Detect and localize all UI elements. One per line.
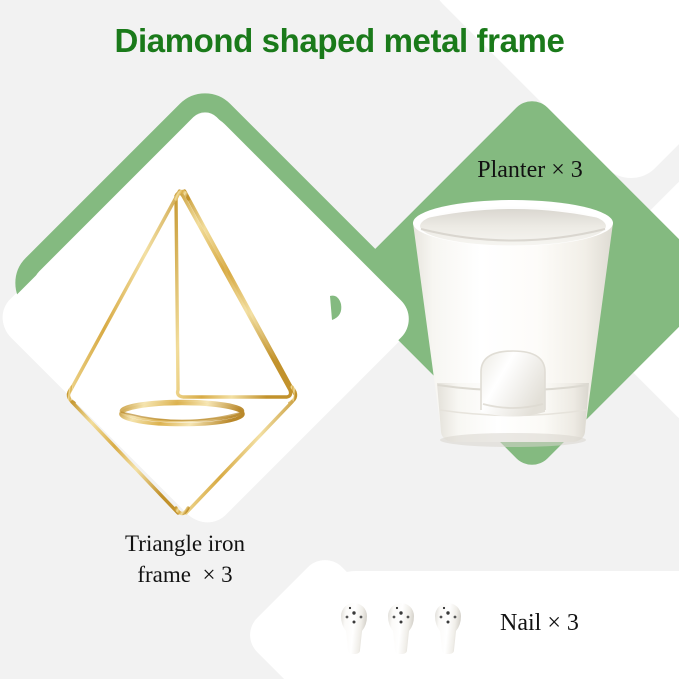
triangle-frame-label-line1: Triangle iron [125, 531, 245, 556]
nail-hook-1 [341, 603, 367, 654]
nail-hook-3 [435, 603, 461, 654]
page-title: Diamond shaped metal frame [0, 22, 679, 60]
planter-label: Planter × 3 [400, 157, 660, 184]
triangle-frame-label-line2: frame × 3 [137, 562, 232, 587]
triangle-frame-label: Triangle ironframe × 3 [40, 528, 330, 590]
nail-label: Nail × 3 [500, 610, 660, 637]
nail-hook-2 [388, 603, 414, 654]
infographic-canvas: Diamond shaped metal frame Planter × 3 T… [0, 0, 679, 679]
